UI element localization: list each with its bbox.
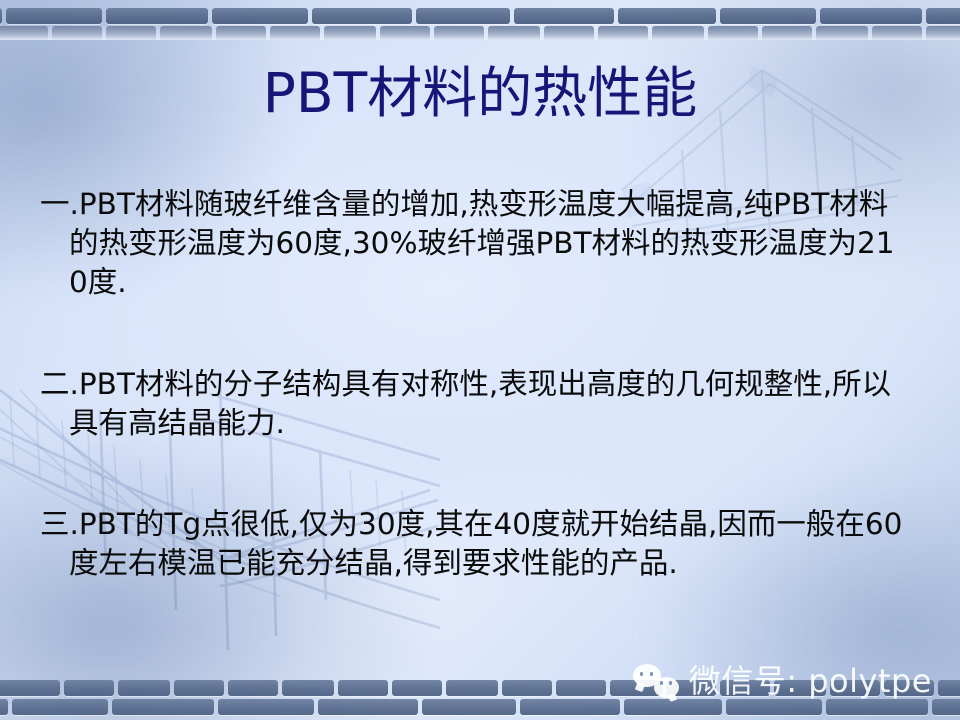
body-paragraph-3: 三.PBT的Tg点很低,仅为30度,其在40度就开始结晶,因而一般在60度左右模…: [40, 505, 905, 583]
wechat-id-label: 微信号: polytpe: [689, 665, 932, 697]
slide-title: PBT材料的热性能: [0, 64, 960, 122]
wechat-logo-icon: [633, 664, 679, 698]
body-paragraph-2: 二.PBT材料的分子结构具有对称性,表现出高度的几何规整性,所以具有高结晶能力.: [40, 365, 905, 443]
wechat-watermark: 微信号: polytpe: [633, 664, 932, 698]
brick-row: [0, 26, 960, 40]
brick-border-top: [0, 0, 960, 40]
slide-body: 一.PBT材料随玻纤维含量的增加,热变形温度大幅提高,纯PBT材料的热变形温度为…: [40, 185, 905, 583]
brick-row: [0, 699, 960, 715]
body-paragraph-1: 一.PBT材料随玻纤维含量的增加,热变形温度大幅提高,纯PBT材料的热变形温度为…: [40, 185, 905, 302]
presentation-slide: PBT材料的热性能 一.PBT材料随玻纤维含量的增加,热变形温度大幅提高,纯PB…: [0, 0, 960, 720]
brick-row: [0, 8, 960, 24]
